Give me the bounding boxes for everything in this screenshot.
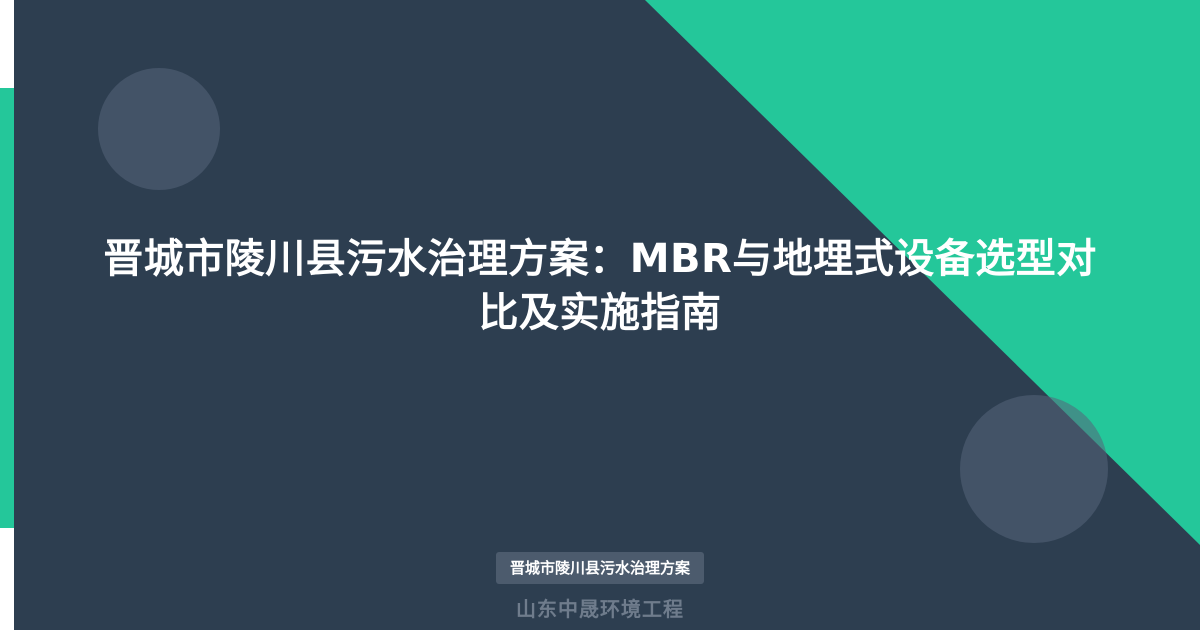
footer-block: 晋城市陵川县污水治理方案 山东中晟环境工程: [0, 552, 1200, 622]
left-strip-top-gap: [0, 0, 14, 88]
page-title: 晋城市陵川县污水治理方案：MBR与地埋式设备选型对比及实施指南: [90, 232, 1110, 340]
brand-name: 山东中晟环境工程: [0, 593, 1200, 622]
decorative-circle-top-left: [98, 68, 220, 190]
status-badge: 晋城市陵川县污水治理方案: [496, 552, 704, 584]
title-block: 晋城市陵川县污水治理方案：MBR与地埋式设备选型对比及实施指南: [0, 232, 1200, 340]
slide-canvas: 晋城市陵川县污水治理方案：MBR与地埋式设备选型对比及实施指南 晋城市陵川县污水…: [0, 0, 1200, 630]
decorative-circle-bottom-right: [960, 395, 1108, 543]
